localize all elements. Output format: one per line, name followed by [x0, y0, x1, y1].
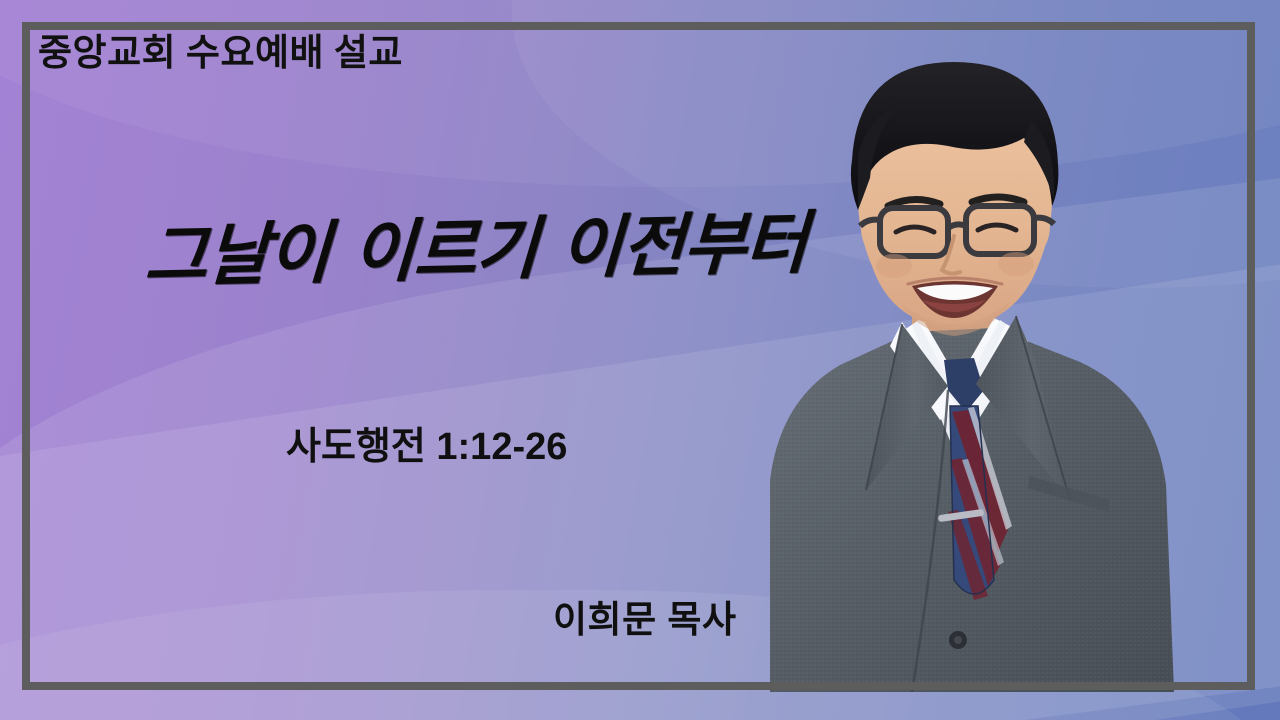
scripture-reference: 사도행전 1:12-26: [286, 415, 567, 470]
speaker-name: 이희문 목사: [553, 589, 736, 643]
sermon-title: 그날이 이르기 이전부터: [143, 209, 747, 293]
sermon-title-slide: 중앙교회 수요예배 설교 그날이 이르기 이전부터 사도행전 1:12-26 이…: [0, 0, 1280, 720]
header-title: 중앙교회 수요예배 설교: [38, 33, 403, 76]
